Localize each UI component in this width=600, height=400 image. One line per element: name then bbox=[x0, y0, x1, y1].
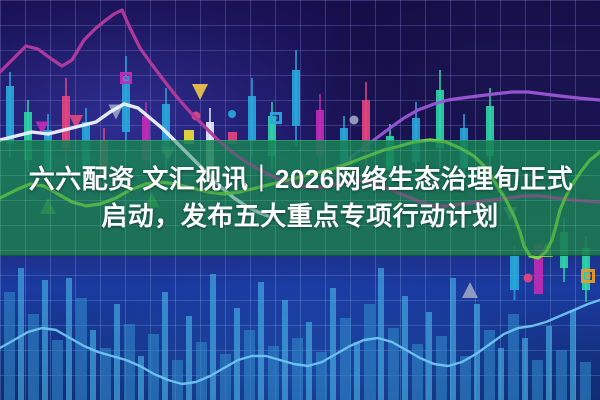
headline-line-1: 六六配资 文汇视讯｜2026网络生态治理旬正式 bbox=[27, 163, 574, 196]
headline-text-block: 六六配资 文汇视讯｜2026网络生态治理旬正式 启动，发布五大重点专项行动计划 bbox=[0, 140, 600, 256]
headline-line-2: 启动，发布五大重点专项行动计划 bbox=[101, 200, 499, 233]
news-thumbnail-image: 六六配资 文汇视讯｜2026网络生态治理旬正式 启动，发布五大重点专项行动计划 bbox=[0, 0, 600, 400]
